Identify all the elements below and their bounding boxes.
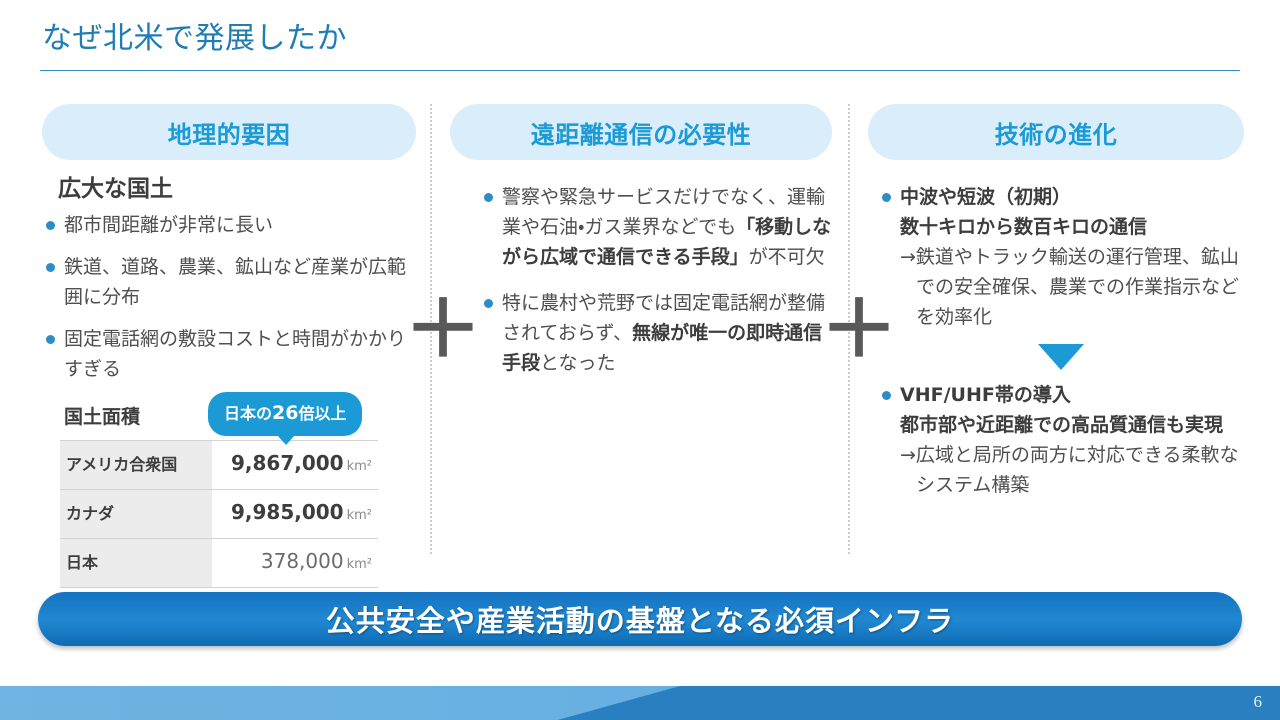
- table-row: 日本 378,000km²: [60, 539, 378, 588]
- table-cell-area: 9,985,000km²: [212, 490, 378, 539]
- slide-root: なぜ北米で発展したか ＋ ＋ 地理的要因 広大な国土 都市間距離が非常に長い 鉄…: [0, 0, 1280, 720]
- tech-block-title: VHF/UHF帯の導入: [900, 384, 1071, 406]
- area-value: 9,867,000: [231, 451, 344, 475]
- area-unit: km²: [347, 557, 372, 572]
- bullet-dot-icon: [46, 335, 55, 344]
- bullet-text: 都市間距離が非常に長い: [64, 214, 273, 236]
- down-arrow-icon: [1038, 344, 1084, 370]
- bullet-text-part2: となった: [540, 352, 615, 374]
- list-item: 固定電話網の敷設コストと時間がかかりすぎる: [42, 324, 416, 384]
- list-item: VHF/UHF帯の導入 都市部や近距離での高品質通信も実現 →広域と局所の両方に…: [878, 380, 1244, 500]
- bullet-text: 鉄道、道路、農業、鉱山など産業が広範囲に分布: [64, 256, 406, 308]
- bullet-dot-icon: [882, 391, 891, 400]
- table-cell-area: 378,000km²: [212, 539, 378, 588]
- tech-block-detail: →鉄道やトラック輸送の運行管理、鉱山での安全確保、農業での作業指示などを効率化: [900, 242, 1244, 332]
- column-header-pill-2: 遠距離通信の必要性: [450, 104, 832, 160]
- column-header-label-1: 地理的要因: [168, 115, 291, 150]
- column-long-distance: 遠距離通信の必要性 警察や緊急サービスだけでなく、運輸業や石油・ガス業界などでも…: [450, 104, 832, 394]
- area-table-wrapper: 国土面積 日本の26倍以上 アメリカ合衆国 9,867,000km²: [60, 400, 378, 588]
- conclusion-banner-label: 公共安全や産業活動の基盤となる必須インフラ: [326, 598, 954, 640]
- footer-bar: 6: [0, 686, 1280, 720]
- bullet-text: 固定電話網の敷設コストと時間がかかりすぎる: [64, 328, 406, 380]
- footer-accent-shape: [0, 686, 680, 720]
- status-badge: 日本の26倍以上: [208, 392, 362, 436]
- bullet-dot-icon: [46, 221, 55, 230]
- bullet-dot-icon: [484, 193, 493, 202]
- column-subhead-1: 広大な国土: [58, 174, 416, 204]
- tech-block-subtitle: 数十キロから数百キロの通信: [900, 216, 1147, 238]
- list-item: 特に農村や荒野では固定電話網が整備されておらず、無線が唯一の即時通信手段となった: [480, 288, 832, 378]
- badge-prefix: 日本の: [224, 404, 272, 423]
- area-value: 378,000: [261, 549, 344, 573]
- column-technology: 技術の進化 中波や短波（初期） 数十キロから数百キロの通信 →鉄道やトラック輸送…: [868, 104, 1244, 512]
- tech-block-detail: →広域と局所の両方に対応できる柔軟なシステム構築: [900, 440, 1244, 500]
- conclusion-banner: 公共安全や産業活動の基盤となる必須インフラ: [38, 592, 1242, 646]
- area-unit: km²: [347, 508, 372, 523]
- page-number: 6: [1254, 692, 1263, 712]
- bullet-dot-icon: [484, 299, 493, 308]
- area-table: アメリカ合衆国 9,867,000km² カナダ 9,985,000km²: [60, 440, 378, 588]
- column-body-1: 広大な国土 都市間距離が非常に長い 鉄道、道路、農業、鉱山など産業が広範囲に分布…: [42, 174, 416, 588]
- list-item: 中波や短波（初期） 数十キロから数百キロの通信 →鉄道やトラック輸送の運行管理、…: [878, 182, 1244, 332]
- column-body-3: 中波や短波（初期） 数十キロから数百キロの通信 →鉄道やトラック輸送の運行管理、…: [878, 182, 1244, 500]
- table-row: アメリカ合衆国 9,867,000km²: [60, 441, 378, 490]
- list-item: 都市間距離が非常に長い: [42, 210, 416, 240]
- table-cell-country: アメリカ合衆国: [60, 441, 212, 490]
- table-cell-area: 9,867,000km²: [212, 441, 378, 490]
- badge-number: 26: [272, 402, 298, 424]
- table-row: カナダ 9,985,000km²: [60, 490, 378, 539]
- page-title: なぜ北米で発展したか: [42, 18, 347, 60]
- column-header-pill-1: 地理的要因: [42, 104, 416, 160]
- table-cell-country: カナダ: [60, 490, 212, 539]
- column-header-label-2: 遠距離通信の必要性: [531, 115, 752, 150]
- columns-container: 地理的要因 広大な国土 都市間距離が非常に長い 鉄道、道路、農業、鉱山など産業が…: [0, 104, 1280, 564]
- bullet-dot-icon: [882, 193, 891, 202]
- column-body-2: 警察や緊急サービスだけでなく、運輸業や石油・ガス業界などでも「移動しながら広域で…: [480, 182, 832, 378]
- list-item: 警察や緊急サービスだけでなく、運輸業や石油・ガス業界などでも「移動しながら広域で…: [480, 182, 832, 272]
- tech-block-title: 中波や短波（初期）: [900, 186, 1071, 208]
- column-header-label-3: 技術の進化: [995, 115, 1118, 150]
- bullet-dot-icon: [46, 263, 55, 272]
- title-underline: [40, 70, 1240, 71]
- tech-block-subtitle: 都市部や近距離での高品質通信も実現: [900, 414, 1223, 436]
- column-header-pill-3: 技術の進化: [868, 104, 1244, 160]
- area-value: 9,985,000: [231, 500, 344, 524]
- badge-suffix: 倍以上: [298, 404, 346, 423]
- list-item: 鉄道、道路、農業、鉱山など産業が広範囲に分布: [42, 252, 416, 312]
- table-cell-country: 日本: [60, 539, 212, 588]
- bullet-text-part2: が不可欠: [749, 246, 825, 268]
- area-unit: km²: [347, 459, 372, 474]
- column-geographic: 地理的要因 広大な国土 都市間距離が非常に長い 鉄道、道路、農業、鉱山など産業が…: [42, 104, 416, 588]
